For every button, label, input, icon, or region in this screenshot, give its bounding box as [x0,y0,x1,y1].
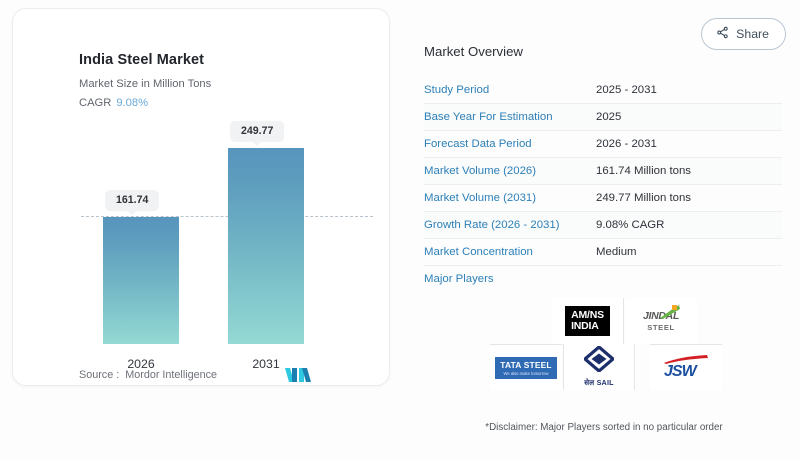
jsw-line-1: JSW [664,363,708,381]
market-report-page: Share India Steel Market Market Size in … [0,0,800,459]
bar-2026[interactable] [103,217,179,344]
row-value: 2026 - 2031 [596,131,782,158]
logo-cell-tata: TATA STEEL We also make tomorrow [490,344,562,390]
sail-diamond-icon [584,359,614,376]
logo-cell-jsw: JSW [650,344,722,390]
market-overview-panel: Market Overview Study Period 2025 - 2031… [424,44,782,292]
row-value: 9.08% CAGR [596,212,782,239]
bar-chart-plot-area: 161.74 249.77 2026 2031 [13,119,391,344]
row-key: Market Concentration [424,239,596,266]
row-value [596,266,782,293]
bar-value-label-2031: 249.77 [230,121,284,142]
amns-india-logo: AM/NS INDIA [565,306,610,335]
row-value: Medium [596,239,782,266]
table-row: Forecast Data Period 2026 - 2031 [424,131,782,158]
chart-source-label: Source : [79,369,119,381]
table-row: Base Year For Estimation 2025 [424,104,782,131]
row-value: 2025 - 2031 [596,77,782,104]
tata-line-2: We also make tomorrow [500,371,551,376]
share-button-label: Share [736,27,769,41]
table-row: Market Volume (2031) 249.77 Million tons [424,185,782,212]
logo-cell-sail: सेल SAIL [563,344,635,390]
chart-card: India Steel Market Market Size in Millio… [12,8,390,386]
table-row: Market Concentration Medium [424,239,782,266]
disclaimer-text: *Disclaimer: Major Players sorted in no … [424,422,784,433]
row-key: Market Volume (2031) [424,185,596,212]
bar-2031[interactable] [228,148,304,344]
major-players-logo-grid: AM/NS INDIA JINDAL STEEL TATA STEEL We a… [490,298,728,390]
sail-logo: सेल SAIL [584,346,614,388]
tata-line-1: TATA STEEL [500,360,551,370]
row-key: Study Period [424,77,596,104]
chart-cagr-label: CAGR [79,97,111,109]
share-nodes-icon [716,26,729,42]
jsw-logo: JSW [664,355,708,381]
row-value: 161.74 Million tons [596,158,782,185]
sail-line-1: सेल SAIL [584,378,614,388]
bar-value-label-2026: 161.74 [105,190,159,211]
chart-subtitle: Market Size in Million Tons [79,78,211,90]
market-overview-title: Market Overview [424,44,782,59]
row-key: Growth Rate (2026 - 2031) [424,212,596,239]
tata-steel-logo: TATA STEEL We also make tomorrow [495,357,556,379]
logo-cell-jindal: JINDAL STEEL [625,298,697,344]
row-key: Forecast Data Period [424,131,596,158]
row-key: Base Year For Estimation [424,104,596,131]
chart-cagr: CAGR 9.08% [79,97,148,109]
chart-cagr-value: 9.08% [116,97,148,109]
row-value: 249.77 Million tons [596,185,782,212]
row-key: Major Players [424,266,596,293]
table-row: Study Period 2025 - 2031 [424,77,782,104]
logo-cell-amns: AM/NS INDIA [552,298,624,344]
row-key: Market Volume (2026) [424,158,596,185]
chart-source-name: Mordor Intelligence [125,369,217,381]
row-value: 2025 [596,104,782,131]
table-row: Market Volume (2026) 161.74 Million tons [424,158,782,185]
jindal-steel-logo: JINDAL STEEL [643,310,679,332]
table-row: Growth Rate (2026 - 2031) 9.08% CAGR [424,212,782,239]
chart-source: Source : Mordor Intelligence [79,369,217,381]
mordor-intelligence-logo [285,367,311,388]
market-overview-table: Study Period 2025 - 2031 Base Year For E… [424,77,782,292]
amns-line-2: INDIA [571,321,604,332]
jindal-swoosh-icon [659,305,681,324]
chart-title: India Steel Market [79,52,204,68]
jindal-line-2: STEEL [643,323,679,332]
table-row-major-players: Major Players [424,266,782,293]
